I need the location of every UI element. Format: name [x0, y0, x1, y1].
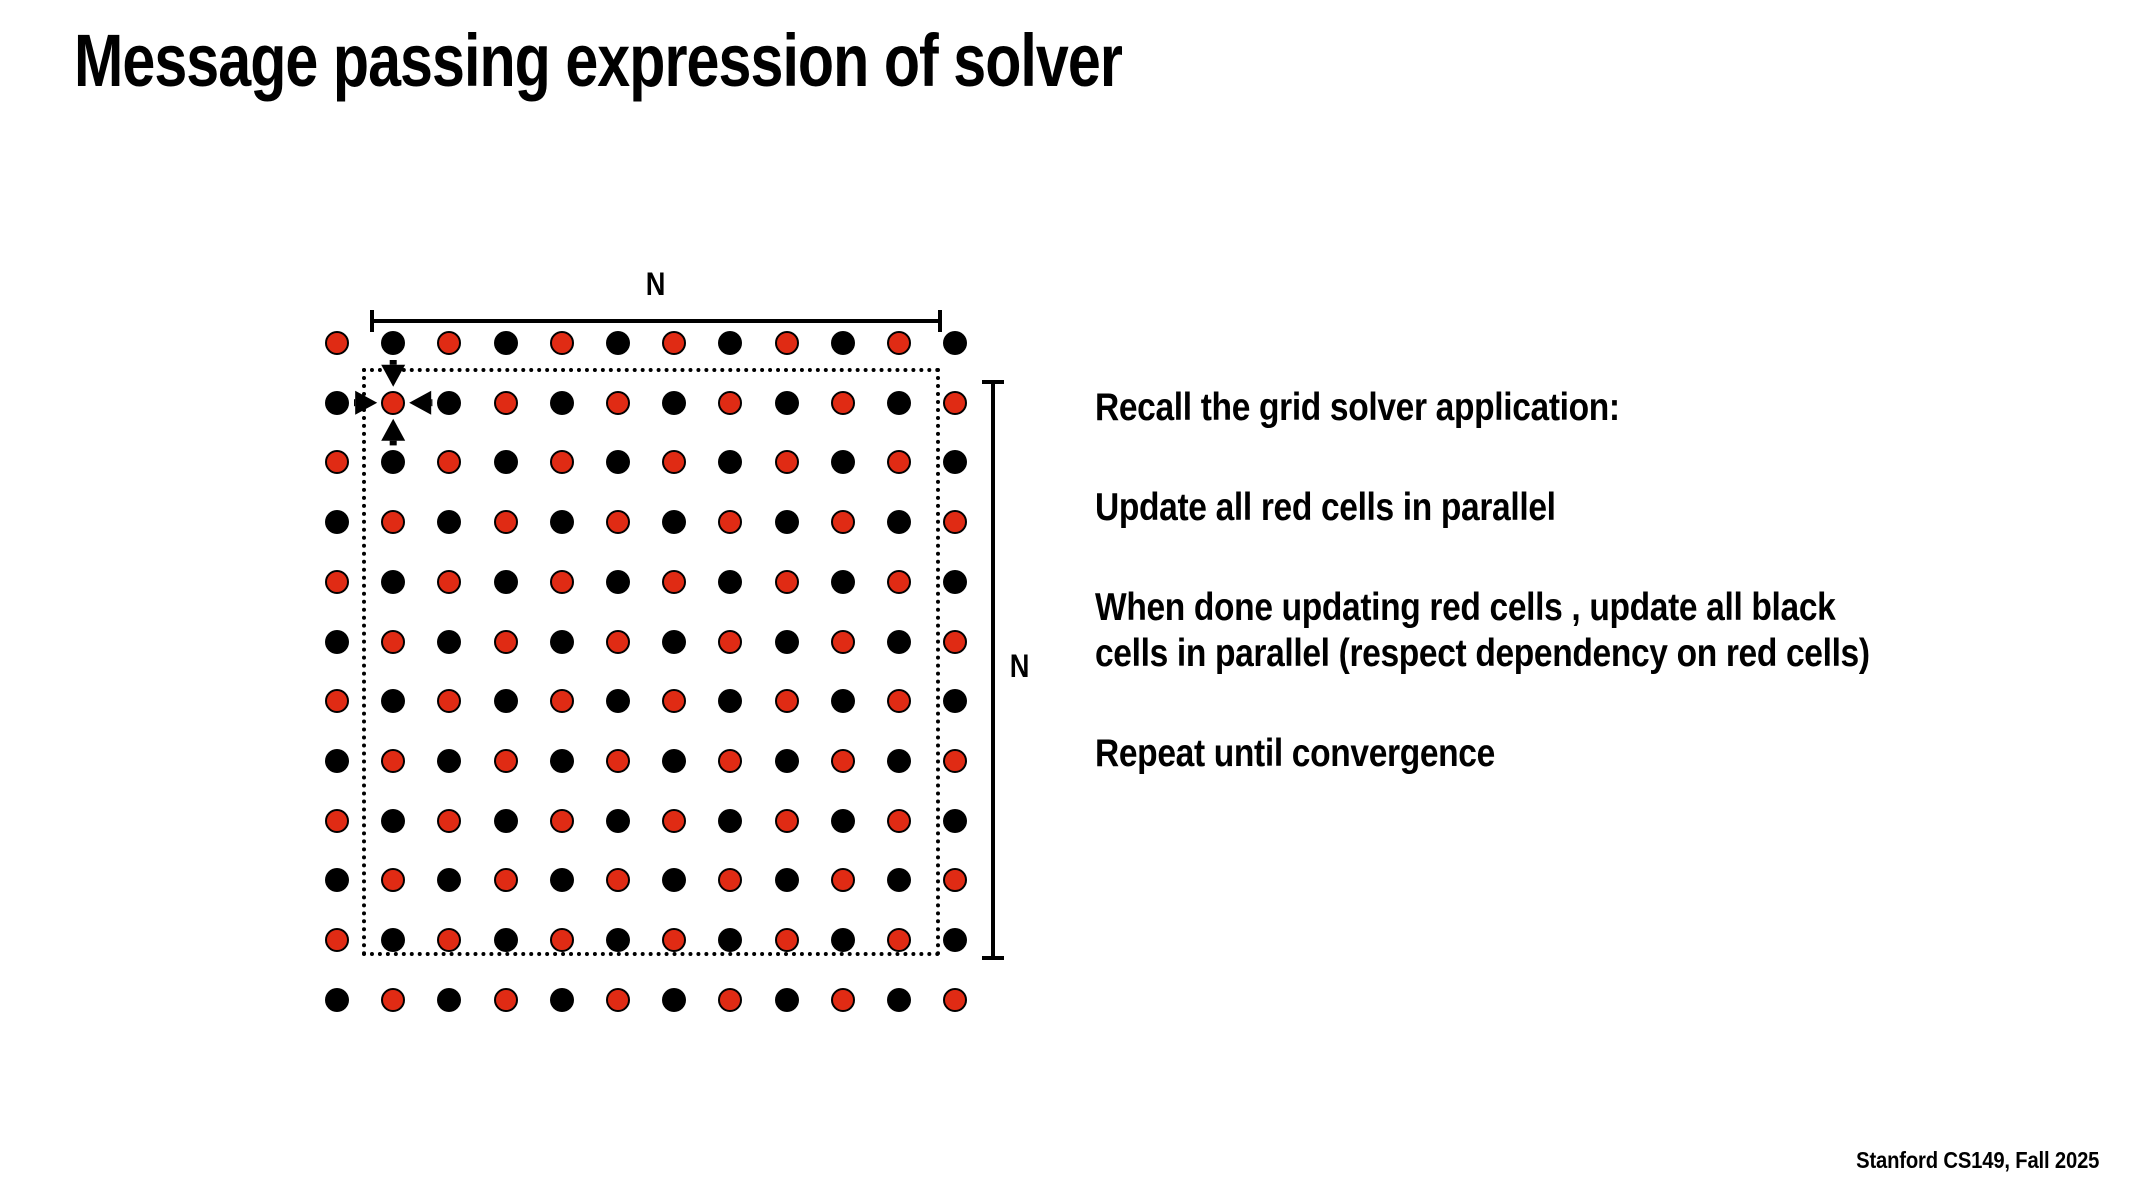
grid-cell-black: [325, 391, 349, 415]
grid-cell-red: [325, 809, 349, 833]
grid-cell-black: [662, 988, 686, 1012]
grid-cell-black: [943, 809, 967, 833]
grid-cell-red: [662, 331, 686, 355]
grid-cell-black: [887, 988, 911, 1012]
slide-canvas: Message passing expression of solver N N…: [0, 0, 2133, 1200]
grid-cell-red: [325, 928, 349, 952]
grid-cell-black: [943, 570, 967, 594]
body-paragraph: Repeat until convergence: [1095, 731, 2035, 777]
grid-cell-red: [550, 331, 574, 355]
grid-cell-red: [325, 570, 349, 594]
body-text-line: cells in parallel (respect dependency on…: [1095, 631, 1903, 677]
grid-cell-black: [550, 988, 574, 1012]
grid-cell-black: [325, 510, 349, 534]
bracket-bar-vertical: [991, 380, 995, 960]
grid-cell-red: [943, 510, 967, 534]
grid-cell-black: [943, 450, 967, 474]
arrow-shaft: [390, 360, 397, 365]
grid-cell-black: [325, 630, 349, 654]
grid-cell-red: [943, 868, 967, 892]
grid-cell-black: [325, 868, 349, 892]
body-text-line: Recall the grid solver application:: [1095, 385, 1903, 431]
body-text-line: When done updating red cells , update al…: [1095, 585, 1903, 631]
dotted-interior-box: [362, 368, 940, 956]
grid-cell-black: [831, 331, 855, 355]
grid-cell-black: [718, 331, 742, 355]
grid-cell-black: [943, 689, 967, 713]
vertical-dimension-bracket: [982, 380, 1004, 960]
grid-cell-red: [887, 331, 911, 355]
body-paragraph: Recall the grid solver application:: [1095, 385, 2035, 431]
grid-cell-black: [943, 331, 967, 355]
grid-cell-red: [606, 988, 630, 1012]
bracket-bar-horizontal: [370, 319, 942, 323]
grid-cell-red: [943, 391, 967, 415]
grid-cell-red: [775, 331, 799, 355]
grid-cell-red: [831, 988, 855, 1012]
grid-cell-black: [381, 331, 405, 355]
grid-cell-red: [494, 988, 518, 1012]
grid-cell-red: [325, 689, 349, 713]
slide-footer: Stanford CS149, Fall 2025: [1856, 1147, 2099, 1174]
grid-cell-black: [943, 928, 967, 952]
bracket-cap-bottom: [982, 956, 1004, 960]
grid-cell-red: [718, 988, 742, 1012]
grid-cell-red: [437, 331, 461, 355]
horizontal-dimension-bracket: [370, 310, 942, 332]
body-paragraph: When done updating red cells , update al…: [1095, 585, 2035, 677]
body-text-column: Recall the grid solver application:Updat…: [1095, 385, 2035, 777]
grid-cell-black: [494, 331, 518, 355]
grid-cell-black: [775, 988, 799, 1012]
grid-cell-black: [325, 749, 349, 773]
grid-solver-diagram: N N: [0, 0, 1100, 1120]
body-text-line: Update all red cells in parallel: [1095, 485, 1903, 531]
grid-cell-black: [606, 331, 630, 355]
grid-cell-red: [943, 749, 967, 773]
grid-cell-red: [381, 988, 405, 1012]
grid-cell-black: [325, 988, 349, 1012]
grid-cell-black: [437, 988, 461, 1012]
dimension-label-n-vertical: N: [1010, 648, 1030, 685]
body-paragraph: Update all red cells in parallel: [1095, 485, 2035, 531]
grid-cell-red: [943, 630, 967, 654]
body-text-line: Repeat until convergence: [1095, 731, 1903, 777]
grid-cell-red: [325, 450, 349, 474]
arrow-shaft: [354, 399, 355, 406]
dimension-label-n-horizontal: N: [646, 266, 666, 303]
bracket-cap-right: [938, 310, 942, 332]
grid-cell-red: [943, 988, 967, 1012]
grid-cell-red: [325, 331, 349, 355]
